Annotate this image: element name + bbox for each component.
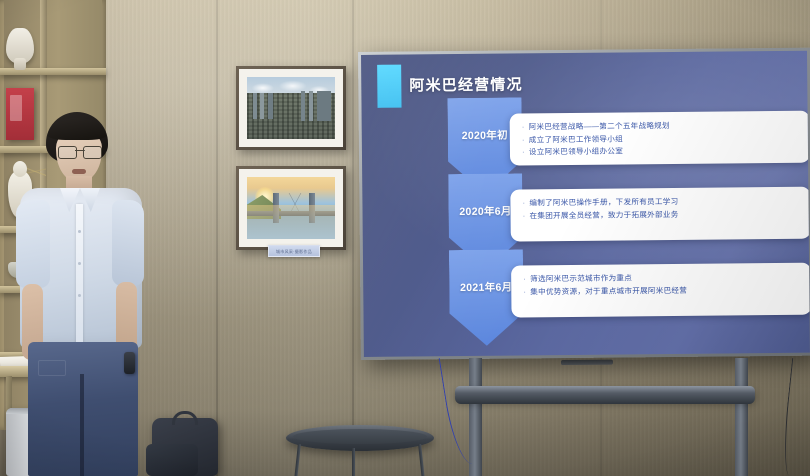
bullet-text: 阿米巴经营战略——第二个五年战略规划 <box>529 120 670 134</box>
bullet-text: 集中优势资源，对于重点城市开展阿米巴经营 <box>530 284 687 298</box>
wall-seam <box>352 0 354 476</box>
wall-mounted-tv: 阿米巴经营情况 2020年初 · 阿米巴经营战略——第二个五年战略规划 <box>358 48 810 360</box>
timeline-row: 2020年初 · 阿米巴经营战略——第二个五年战略规划 · 成立了阿米巴工作领导… <box>448 111 810 178</box>
wall-plaque: 城市风采·摄影作品 <box>268 245 320 257</box>
bullet-text: 筛选阿米巴示范城市作为重点 <box>530 272 632 285</box>
bullet-dot-icon: · <box>523 273 526 286</box>
wall-seam <box>216 0 218 476</box>
bullet-item: · 在集团开展全员经营，致力于拓展外部业务 <box>523 207 801 222</box>
tv-bezel: 阿米巴经营情况 2020年初 · 阿米巴经营战略——第二个五年战略规划 <box>358 48 810 360</box>
backpack <box>152 418 218 476</box>
white-vase-icon <box>6 28 34 64</box>
presenter-shirt-placket <box>76 204 83 346</box>
bullet-dot-icon: · <box>523 210 526 223</box>
presentation-clicker <box>124 352 135 374</box>
presentation-slide: 阿米巴经营情况 2020年初 · 阿米巴经营战略——第二个五年战略规划 <box>361 51 810 357</box>
blue-cable <box>447 358 475 464</box>
bullet-text: 成立了阿米巴工作领导小组 <box>529 133 623 146</box>
bullet-item: · 设立阿米巴领导小组办公室 <box>522 144 800 159</box>
timeline-card: · 筛选阿米巴示范城市作为重点 · 集中优势资源，对于重点城市开展阿米巴经营 <box>511 263 810 318</box>
bullet-dot-icon: · <box>522 121 525 134</box>
timeline-period-label: 2020年6月 <box>459 206 511 219</box>
picture-mat <box>239 169 343 247</box>
skyscraper-cluster <box>301 91 331 121</box>
presenter-sleeve-left <box>16 200 50 288</box>
cityscape-artwork <box>247 77 335 139</box>
glasses-bridge <box>75 150 85 151</box>
tv-stand-brace <box>455 396 755 404</box>
wall-plaque-label: 城市风采·摄影作品 <box>269 246 319 258</box>
timeline-row: 2020年6月 · 编制了阿米巴操作手册，下发所有员工学习 · 在集团开展全员经… <box>448 187 810 254</box>
timeline-row: 2021年6月 · 筛选阿米巴示范城市作为重点 · 集中优势资源，对于重点城市开… <box>449 263 810 330</box>
power-cable <box>786 358 800 476</box>
bullet-dot-icon: · <box>522 146 525 159</box>
water-reflection <box>247 205 335 239</box>
shirt-button <box>78 262 81 265</box>
screenshot-scene: 城市风采·摄影作品 阿米巴经营情况 2020年初 · <box>0 0 810 476</box>
slide-title: 阿米巴经营情况 <box>409 73 523 95</box>
framed-bridge-photo <box>236 166 346 250</box>
presenter-sleeve-right <box>112 200 144 286</box>
backpack-pocket <box>146 444 198 476</box>
picture-mat <box>239 69 343 147</box>
timeline-period-label: 2021年6月 <box>460 282 512 295</box>
timeline-card: · 编制了阿米巴操作手册，下发所有员工学习 · 在集团开展全员经营，致力于拓展外… <box>510 187 810 242</box>
skyscraper-cluster <box>253 93 287 119</box>
bullet-text: 设立阿米巴领导小组办公室 <box>529 145 623 158</box>
framed-cityscape-photo <box>236 66 346 150</box>
tv-screen: 阿米巴经营情况 2020年初 · 阿米巴经营战略——第二个五年战略规划 <box>361 51 810 357</box>
presenter <box>14 112 146 476</box>
bullet-item: · 集中优势资源，对于重点城市开展阿米巴经营 <box>523 283 801 298</box>
pants-seam <box>80 374 84 476</box>
presenter-mouth <box>72 169 86 174</box>
side-table-leg <box>352 448 355 476</box>
shirt-button <box>78 294 81 297</box>
round-side-table <box>286 425 434 451</box>
tv-brand-strip <box>561 360 613 365</box>
bridge-artwork <box>247 177 335 239</box>
title-accent-bar <box>377 65 401 108</box>
tv-stand-post <box>735 358 748 476</box>
pants-pocket <box>38 360 66 376</box>
timeline-period-label: 2020年初 <box>462 130 508 142</box>
shirt-button <box>78 230 81 233</box>
bullet-dot-icon: · <box>522 197 525 210</box>
bullet-dot-icon: · <box>522 134 525 147</box>
glasses-icon <box>58 146 102 157</box>
bullet-dot-icon: · <box>523 286 526 299</box>
timeline-card: · 阿米巴经营战略——第二个五年战略规划 · 成立了阿米巴工作领导小组 · 设立… <box>510 111 810 166</box>
bullet-text: 在集团开展全员经营，致力于拓展外部业务 <box>529 208 678 222</box>
